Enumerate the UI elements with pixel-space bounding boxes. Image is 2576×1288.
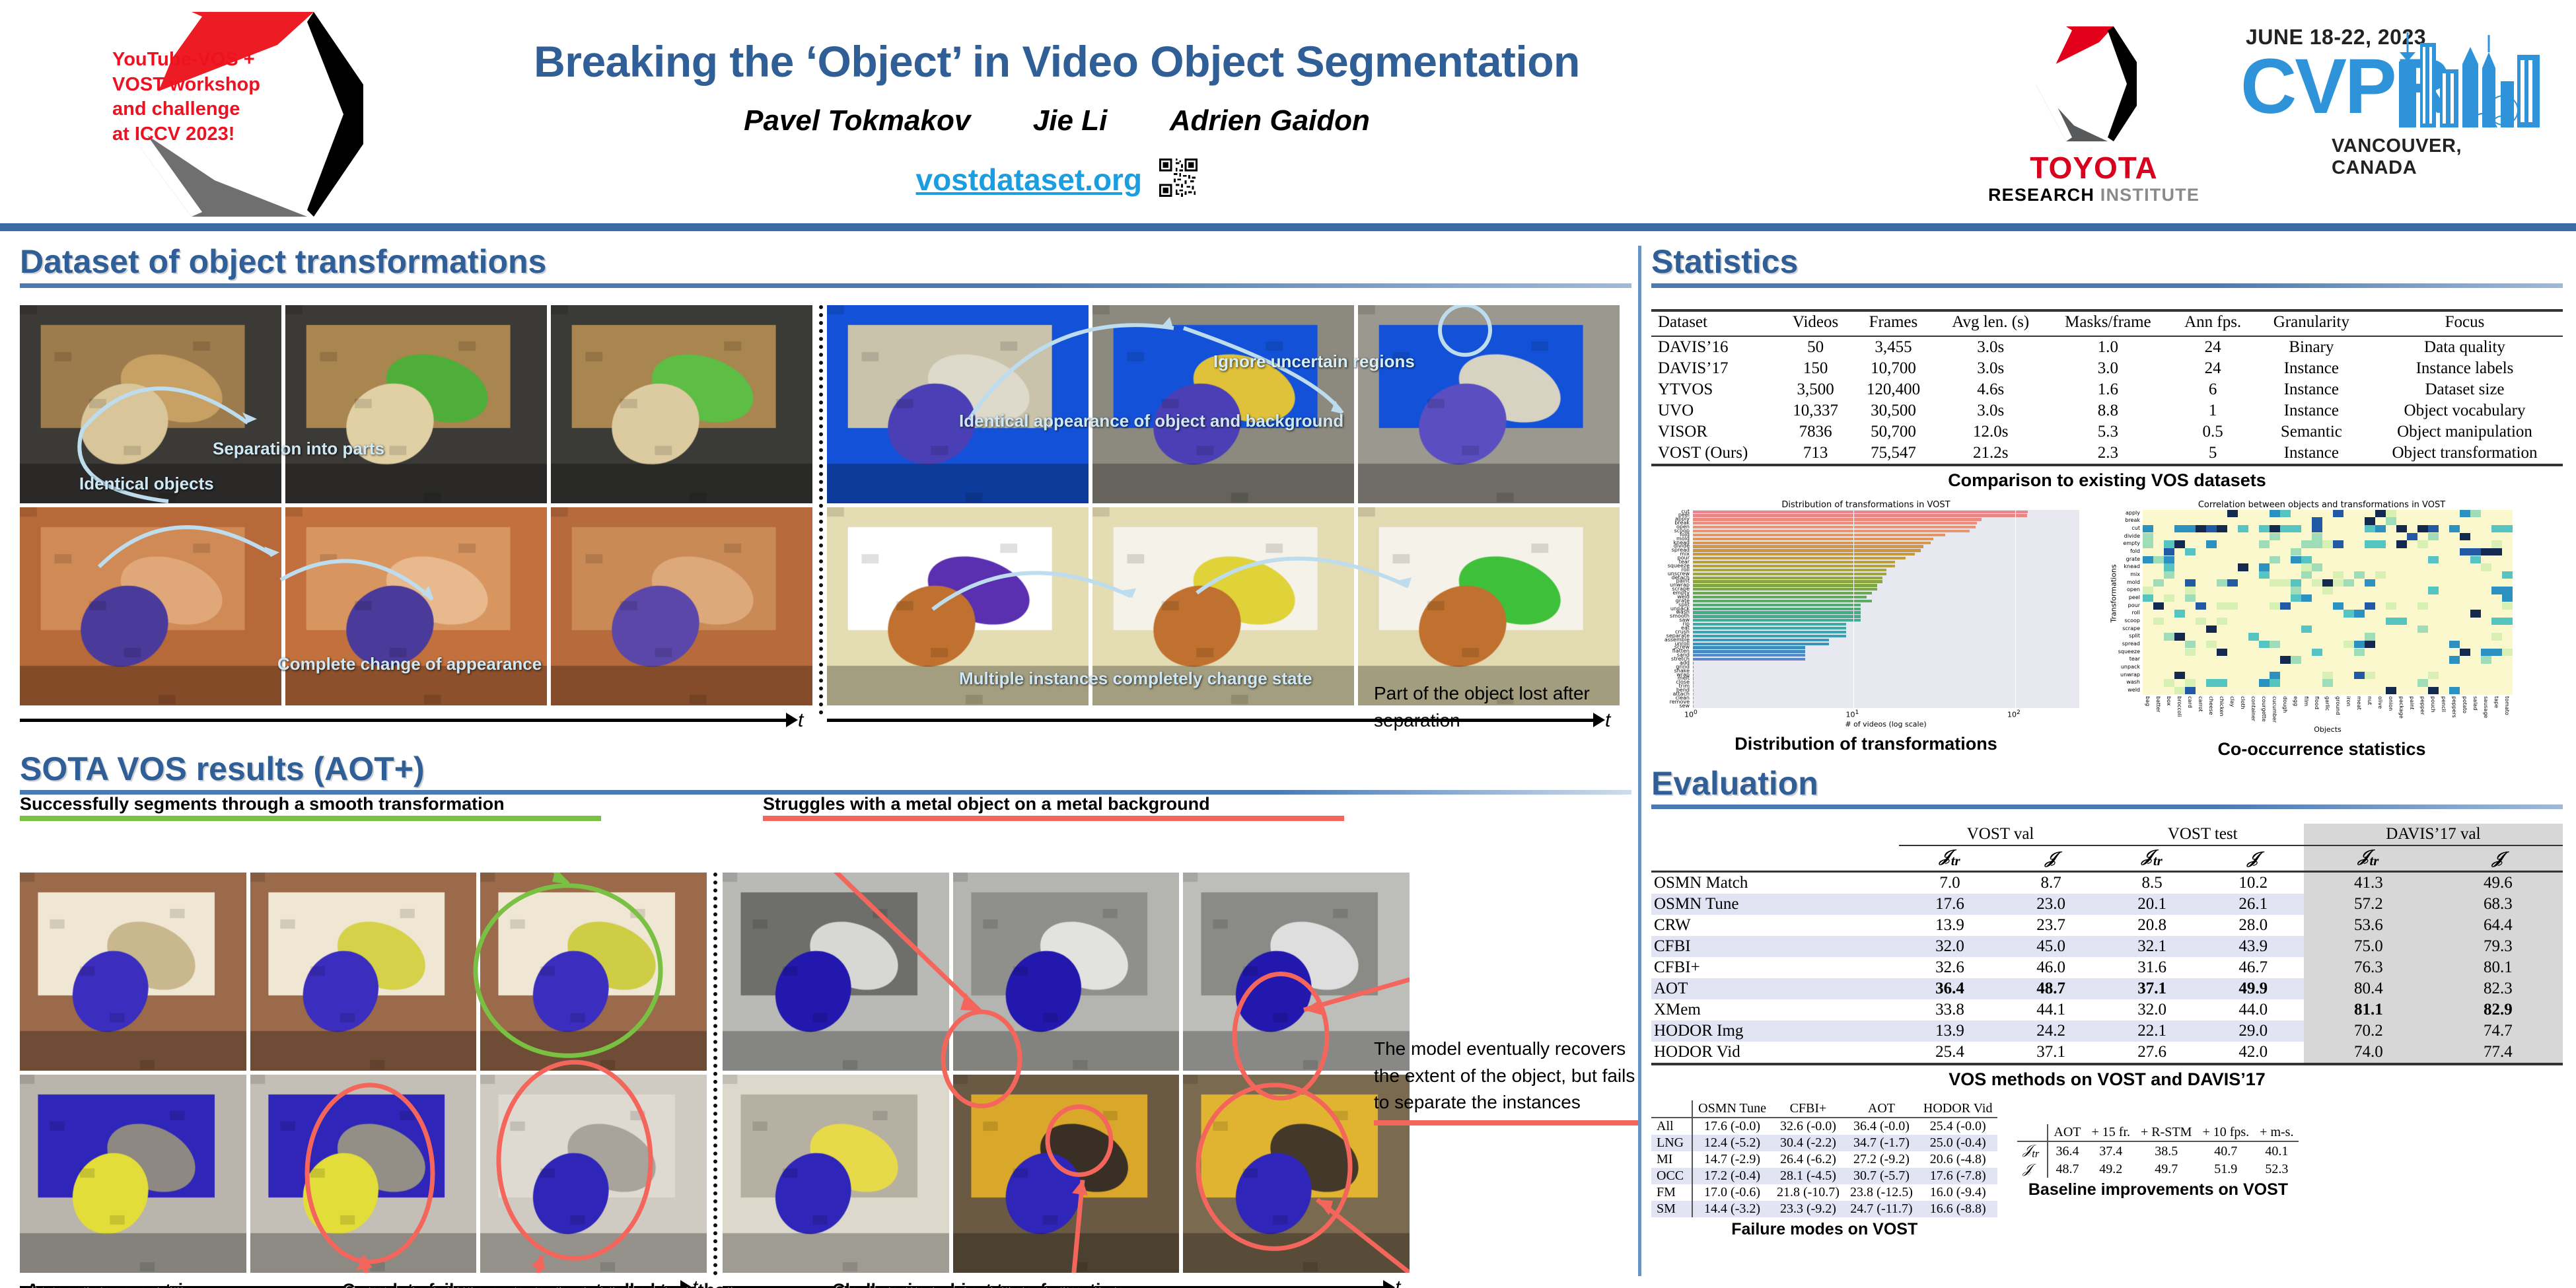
table-cell: 41.3 xyxy=(2304,872,2433,894)
table-cell: Instance xyxy=(2256,400,2367,421)
table-cell: 4.6s xyxy=(1935,379,2046,400)
table-cell: OCC xyxy=(1651,1168,1692,1184)
heatmap-y-label: weld xyxy=(2128,687,2140,693)
vancouver-skyline-icon xyxy=(2390,23,2548,135)
table-cell: Data quality xyxy=(2367,336,2563,358)
eval-method-name: OSMN Tune xyxy=(1651,894,1899,915)
section-rule-evaluation xyxy=(1651,805,2563,809)
table-cell: 48.7 xyxy=(2001,978,2102,999)
heatmap-x-label: flood xyxy=(2314,696,2320,709)
heatmap-cell xyxy=(2291,556,2301,564)
heatmap-cell xyxy=(2217,679,2227,687)
stats-col-header: Granularity xyxy=(2256,310,2367,336)
project-url-row: vostdataset.org xyxy=(462,159,1651,200)
right-column: Statistics DatasetVideosFramesAvg len. (… xyxy=(1651,244,2563,1281)
heatmap-x-label: tape xyxy=(2493,696,2499,708)
baseline-col-header: + 10 fps. xyxy=(2197,1124,2254,1141)
table-cell: 713 xyxy=(1779,443,1851,465)
time-axis-label: t xyxy=(798,709,803,732)
table-row: DAVIS’16503,4553.0s1.024BinaryData quali… xyxy=(1651,336,2563,358)
heatmap-cell xyxy=(2428,533,2439,541)
heatmap-cell xyxy=(2333,571,2343,579)
heatmap-cell xyxy=(2143,587,2153,594)
heatmap-x-label: cucumber xyxy=(2272,696,2277,723)
video-frame xyxy=(250,1075,477,1273)
sota-success-block xyxy=(20,873,707,1273)
heatmap-cell xyxy=(2196,525,2206,533)
heatmap-cell xyxy=(2481,563,2491,571)
heatmap-cell xyxy=(2196,602,2206,610)
table-cell: 81.1 xyxy=(2304,999,2433,1020)
table-cell: 17.2 (-0.4) xyxy=(1692,1168,1771,1184)
heatmap-cell xyxy=(2206,641,2217,649)
cvpr-city: VANCOUVER, CANADA xyxy=(2332,135,2550,179)
heatmap-x-label: sausage xyxy=(2483,696,2489,718)
table-cell: 2.3 xyxy=(2046,443,2169,465)
table-row: CRW13.923.720.828.053.664.4 xyxy=(1651,915,2563,936)
badge-line-3: and challenge xyxy=(112,97,310,122)
failure-table-block: OSMN TuneCFBI+AOTHODOR Vid All17.6 (-0.0… xyxy=(1651,1100,1997,1239)
table-cell: 32.0 xyxy=(2102,999,2203,1020)
heatmap-y-label: mold xyxy=(2127,579,2140,585)
heatmap-cell xyxy=(2460,548,2470,556)
heatmap-cell xyxy=(2375,571,2386,579)
heatmap-x-label: onion xyxy=(2388,696,2394,711)
heatmap-cell xyxy=(2333,579,2343,587)
table-cell: 7.0 xyxy=(1899,872,2000,894)
eval-method-name: HODOR Img xyxy=(1651,1020,1899,1042)
table-cell: 80.4 xyxy=(2304,978,2433,999)
x-tick-label: 101 xyxy=(1845,709,1859,719)
heatmap-cell xyxy=(2164,594,2174,602)
bar: assemble xyxy=(1692,639,1829,641)
heatmap-cell xyxy=(2365,517,2375,525)
table-cell: Instance labels xyxy=(2367,358,2563,379)
table-cell: 10.2 xyxy=(2203,872,2304,894)
table-cell: 120,400 xyxy=(1852,379,1935,400)
table-cell: 50,700 xyxy=(1852,421,1935,443)
heatmap-cell xyxy=(2428,525,2439,533)
heatmap-cell xyxy=(2481,649,2491,657)
section-heading-dataset: Dataset of object transformations xyxy=(20,244,1631,279)
heatmap-cell xyxy=(2502,571,2513,579)
bar: unwrap xyxy=(1692,584,1877,587)
heatmap-x-label: tomato xyxy=(2504,696,2510,715)
heatmap-cell xyxy=(2301,563,2312,571)
stats-table-wrap: DatasetVideosFramesAvg len. (s)Masks/fra… xyxy=(1651,309,2563,491)
heatmap-cell xyxy=(2206,626,2217,633)
heatmap-cell xyxy=(2417,525,2428,533)
video-frame xyxy=(20,873,246,1071)
table-cell: 17.6 xyxy=(1899,894,2000,915)
annotation-challenging-transformation: Challenging object transformation xyxy=(832,1279,1176,1288)
tri-mark-icon xyxy=(2021,21,2160,147)
table-cell: 1.6 xyxy=(2046,379,2169,400)
bar: empty xyxy=(1692,592,1872,594)
table-row: 𝒥tr36.437.438.540.740.1 xyxy=(2017,1141,2299,1161)
heatmap-cell xyxy=(2174,672,2185,680)
cvpr-conference-logo: JUNE 18-22, 2023 CVPR xyxy=(2239,20,2550,211)
heatmap-cell xyxy=(2174,610,2185,618)
heatmap-x-label: clay xyxy=(2229,696,2235,707)
heatmap-cell xyxy=(2185,641,2196,649)
heatmap-cell xyxy=(2270,525,2280,533)
table-group-header-row: VOST valVOST testDAVIS’17 val xyxy=(1651,824,2563,845)
table-cell: 8.7 xyxy=(2001,872,2102,894)
annotation-model-recovers: The model eventually recovers the extent… xyxy=(1374,1036,1638,1126)
table-cell: 25.4 xyxy=(1899,1042,2000,1064)
table-cell: 82.3 xyxy=(2433,978,2563,999)
table-cell: 33.8 xyxy=(1899,999,2000,1020)
video-frame xyxy=(723,1075,949,1273)
heatmap-cell xyxy=(2185,649,2196,657)
heatmap-cell xyxy=(2428,556,2439,564)
heatmap-cell xyxy=(2153,618,2164,626)
sota-row-2-left xyxy=(20,1075,707,1273)
dataset-row-2-right xyxy=(827,507,1620,705)
table-cell: 𝒥tr xyxy=(2017,1141,2048,1161)
stats-col-header: Focus xyxy=(2367,310,2563,336)
sota-row-1-right xyxy=(723,873,1410,1071)
heatmap-y-label: tear xyxy=(2129,656,2140,662)
table-cell: 14.4 (-3.2) xyxy=(1692,1201,1771,1217)
table-cell: 34.7 (-1.7) xyxy=(1845,1135,1918,1151)
video-frame xyxy=(250,873,477,1071)
heatmap-x-label: dough xyxy=(2282,696,2288,713)
video-frame xyxy=(20,507,281,705)
heatmap-cell xyxy=(2270,641,2280,649)
failure-modes-table: OSMN TuneCFBI+AOTHODOR Vid All17.6 (-0.0… xyxy=(1651,1100,1997,1217)
heatmap-x-label: batter xyxy=(2155,696,2161,712)
table-cell: 27.6 xyxy=(2102,1042,2203,1064)
stats-col-header: Frames xyxy=(1852,310,1935,336)
sota-row-2-right xyxy=(723,1075,1410,1273)
section-statistics: Statistics DatasetVideosFramesAvg len. (… xyxy=(1651,244,2563,760)
stats-col-header: Dataset xyxy=(1651,310,1779,336)
table-cell: 17.0 (-0.6) xyxy=(1692,1184,1771,1201)
heatmap-cell xyxy=(2333,510,2343,518)
heatmap-x-label: cloth xyxy=(2240,696,2246,709)
stats-col-header: Avg len. (s) xyxy=(1935,310,2046,336)
table-cell: 27.2 (-9.2) xyxy=(1845,1151,1918,1168)
eval-method-name: OSMN Match xyxy=(1651,872,1899,894)
table-cell: 25.0 (-0.4) xyxy=(1918,1135,1998,1151)
eval-method-name: HODOR Vid xyxy=(1651,1042,1899,1064)
bar: unroll xyxy=(1692,643,1829,645)
heatmap-y-label: squeeze xyxy=(2118,649,2140,655)
table-cell: 23.0 xyxy=(2001,894,2102,915)
author-2: Jie Li xyxy=(1033,104,1108,137)
project-url-link[interactable]: vostdataset.org xyxy=(916,162,1143,197)
bar: weld xyxy=(1692,596,1867,598)
table-row: DAVIS’1715010,7003.0s3.024InstanceInstan… xyxy=(1651,358,2563,379)
section-evaluation: Evaluation VOST valVOST testDAVIS’17 val… xyxy=(1651,766,2563,1240)
table-row: CFBI+32.646.031.646.776.380.1 xyxy=(1651,957,2563,978)
heatmap-cell xyxy=(2270,510,2280,518)
heatmap-cell xyxy=(2280,525,2291,533)
table-cell: DAVIS’16 xyxy=(1651,336,1779,358)
heatmap-cell xyxy=(2143,594,2153,602)
heatmap-cell xyxy=(2386,618,2396,626)
table-cell: 28.1 (-4.5) xyxy=(1771,1168,1845,1184)
failure-col-header: AOT xyxy=(1845,1100,1918,1118)
table-cell: 42.0 xyxy=(2203,1042,2304,1064)
dataset-row-2-left xyxy=(20,507,812,705)
heatmap-x-label: bag xyxy=(2145,696,2151,706)
heatmap-cell xyxy=(2270,672,2280,680)
table-cell: 76.3 xyxy=(2304,957,2433,978)
eval-sub-header: 𝒥 xyxy=(2001,845,2102,872)
video-frame xyxy=(953,873,1180,1071)
heatmap-x-label: pencil xyxy=(2441,696,2447,712)
heatmap-cell xyxy=(2417,679,2428,687)
heatmap-cell xyxy=(2259,679,2270,687)
table-row: OSMN Match7.08.78.510.241.349.6 xyxy=(1651,872,2563,894)
table-cell: 44.0 xyxy=(2203,999,2304,1020)
table-cell: 80.1 xyxy=(2433,957,2563,978)
section-heading-statistics: Statistics xyxy=(1651,244,2563,279)
heatmap-cell xyxy=(2206,540,2217,548)
bar: unscrew xyxy=(1692,573,1886,575)
badge-line-2: VOST workshop xyxy=(112,73,310,98)
heatmap-cell xyxy=(2227,510,2238,518)
heatmap-cell xyxy=(2365,579,2375,587)
heatmap-x-label: courgette xyxy=(2261,696,2267,722)
table-cell: 32.1 xyxy=(2102,936,2203,957)
dataset-row-1-right xyxy=(827,305,1620,503)
table-cell: 40.7 xyxy=(2197,1141,2254,1161)
bar: grate xyxy=(1692,600,1872,602)
heatmap-cell xyxy=(2449,687,2460,695)
table-cell: Instance xyxy=(2256,379,2367,400)
table-cell: All xyxy=(1651,1118,1692,1135)
failure-col-header: OSMN Tune xyxy=(1692,1100,1771,1118)
heatmap-y-label: cut xyxy=(2131,525,2140,531)
bar: split xyxy=(1692,604,1861,606)
heatmap-cell xyxy=(2259,540,2270,548)
heatmap-cell xyxy=(2491,525,2502,533)
heatmap-y-label: mix xyxy=(2130,571,2140,577)
video-frame xyxy=(480,873,707,1071)
table-cell: 6 xyxy=(2170,379,2256,400)
failure-col-header: CFBI+ xyxy=(1771,1100,1845,1118)
table-cell: 3,500 xyxy=(1779,379,1851,400)
eval-group-header: VOST val xyxy=(1899,824,2101,845)
bar: unpack xyxy=(1692,608,1861,610)
heatmap-cell xyxy=(2386,517,2396,525)
video-frame xyxy=(1358,507,1620,705)
table-cell: 74.7 xyxy=(2433,1020,2563,1042)
heatmap-cell xyxy=(2185,594,2196,602)
heatmap-cell xyxy=(2491,618,2502,626)
table-cell: 17.6 (-7.8) xyxy=(1918,1168,1998,1184)
heatmap-cell xyxy=(2322,679,2333,687)
heatmap-cell xyxy=(2322,579,2333,587)
heatmap-x-label: package xyxy=(2398,696,2404,719)
table-cell: 10,337 xyxy=(1779,400,1851,421)
heatmap-cell xyxy=(2491,540,2502,548)
heatmap-cell xyxy=(2312,533,2322,541)
table-row: VISOR783650,70012.0s5.30.5SemanticObject… xyxy=(1651,421,2563,443)
heatmap-cell xyxy=(2502,602,2513,610)
stats-col-header: Videos xyxy=(1779,310,1851,336)
table-cell: 13.9 xyxy=(1899,915,2000,936)
cooccurrence-ylabel: Transformations xyxy=(2110,554,2118,633)
x-tick-label: 102 xyxy=(2007,709,2021,719)
heatmap-cell xyxy=(2270,579,2280,587)
heatmap-cell xyxy=(2259,563,2270,571)
heatmap-cell xyxy=(2291,594,2301,602)
table-cell: 24.2 xyxy=(2001,1020,2102,1042)
workshop-badge-text: YouTube-VOS + VOST workshop and challeng… xyxy=(112,48,310,147)
table-cell: 22.1 xyxy=(2102,1020,2203,1042)
table-cell: 32.0 xyxy=(1899,936,2000,957)
distribution-bar-chart: cutpeelapplybreakopenscoopfoldmoldkneadd… xyxy=(1692,510,2079,708)
section-rule-statistics xyxy=(1651,283,2563,288)
heatmap-cell xyxy=(2396,618,2407,626)
heatmap-cell xyxy=(2301,594,2312,602)
bar-label: sew xyxy=(1679,704,1690,708)
eval-method-name: CRW xyxy=(1651,915,1899,936)
bar: separate xyxy=(1692,635,1846,637)
heatmap-cell xyxy=(2164,548,2174,556)
heatmap-cell xyxy=(2354,610,2365,618)
eval-sub-header: 𝒥tr xyxy=(2304,845,2433,872)
table-cell: 48.7 xyxy=(2048,1161,2086,1178)
heatmap-x-label: garlic xyxy=(2324,696,2330,711)
annotation-smooth-transformation: Successfully segments through a smooth t… xyxy=(20,793,601,821)
video-frame xyxy=(1092,507,1354,705)
heatmap-cell xyxy=(2449,525,2460,533)
heatmap-cell xyxy=(2354,641,2365,649)
bar: divide xyxy=(1692,545,1923,548)
heatmap-cell xyxy=(2291,579,2301,587)
table-cell: 74.0 xyxy=(2304,1042,2433,1064)
heatmap-y-label: pour xyxy=(2128,602,2140,608)
heatmap-cell xyxy=(2153,556,2164,564)
heatmap-cell xyxy=(2227,602,2238,610)
heatmap-cell xyxy=(2280,602,2291,610)
table-cell: Instance xyxy=(2256,358,2367,379)
heatmap-cell xyxy=(2386,687,2396,695)
table-cell: 24 xyxy=(2170,336,2256,358)
page-title: Breaking the ‘Object’ in Video Object Se… xyxy=(462,36,1651,87)
table-cell: 3,455 xyxy=(1852,336,1935,358)
heatmap-y-label: wash xyxy=(2126,679,2140,685)
eval-method-name: CFBI+ xyxy=(1651,957,1899,978)
bar: spread xyxy=(1692,549,1921,552)
heatmap-cell xyxy=(2365,525,2375,533)
distribution-xlabel: # of videos (log scale) xyxy=(1692,720,2079,729)
heatmap-cell xyxy=(2259,641,2270,649)
table-cell: 31.6 xyxy=(2102,957,2203,978)
poster-root: YouTube-VOS + VOST workshop and challeng… xyxy=(0,0,2576,1288)
heatmap-cell xyxy=(2333,540,2343,548)
heatmap-cell xyxy=(2343,579,2354,587)
distribution-chart-title: Distribution of transformations in VOST xyxy=(1651,500,2081,510)
baseline-col-header xyxy=(2017,1124,2048,1141)
sota-failure-block xyxy=(723,873,1410,1273)
table-cell: Instance xyxy=(2256,443,2367,465)
stats-charts: Distribution of transformations in VOST … xyxy=(1651,500,2563,760)
eval-method-name: AOT xyxy=(1651,978,1899,999)
heatmap-x-label: broccoli xyxy=(2176,696,2182,717)
heatmap-cell xyxy=(2185,687,2196,695)
table-row: SM14.4 (-3.2)23.3 (-9.2)24.7 (-11.7)16.6… xyxy=(1651,1201,1997,1217)
stats-col-header: Masks/frame xyxy=(2046,310,2169,336)
table-cell: 17.6 (-0.0) xyxy=(1692,1118,1771,1135)
table-cell: 43.9 xyxy=(2203,936,2304,957)
heatmap-cell xyxy=(2386,602,2396,610)
heatmap-cell xyxy=(2417,626,2428,633)
table-cell: 32.6 (-0.0) xyxy=(1771,1118,1845,1135)
heatmap-cell xyxy=(2206,679,2217,687)
heatmap-x-label: egg xyxy=(2293,696,2299,706)
table-cell: 150 xyxy=(1779,358,1851,379)
eval-table-wrap: VOST valVOST testDAVIS’17 val 𝒥tr𝒥𝒥tr𝒥𝒥t… xyxy=(1651,824,2563,1090)
heatmap-y-label: unwrap xyxy=(2120,672,2140,678)
heatmap-cell xyxy=(2312,517,2322,525)
eval-corner xyxy=(1651,824,1899,845)
sota-row-1-left xyxy=(20,873,707,1071)
bar: smooth xyxy=(1692,615,1861,618)
eval-table: VOST valVOST testDAVIS’17 val 𝒥tr𝒥𝒥tr𝒥𝒥t… xyxy=(1651,824,2563,1065)
bar: eat xyxy=(1692,627,1846,629)
table-cell: 36.4 (-0.0) xyxy=(1845,1118,1918,1135)
bar: flatten xyxy=(1692,650,1805,653)
eval-corner-2 xyxy=(1651,845,1899,872)
table-header-row: AOT+ 15 fr.+ R-STM+ 10 fps.+ m-s. xyxy=(2017,1124,2299,1141)
bar: cut xyxy=(1692,511,2028,513)
eval-sub-header: 𝒥 xyxy=(2203,845,2304,872)
video-frame xyxy=(20,305,281,503)
cooccurrence-chart-title: Correlation between objects and transfor… xyxy=(2094,500,2550,510)
heatmap-cell xyxy=(2301,571,2312,579)
table-cell: Semantic xyxy=(2256,421,2367,443)
heatmap-cell xyxy=(2365,672,2375,680)
heatmap-y-label: fold xyxy=(2130,548,2140,554)
time-axis-left: t xyxy=(20,708,812,734)
table-cell: 1.0 xyxy=(2046,336,2169,358)
heatmap-cell xyxy=(2322,540,2333,548)
bar: peel xyxy=(1692,514,2027,517)
bar: saw xyxy=(1692,619,1861,622)
heatmap-cell xyxy=(2428,587,2439,594)
heatmap-cell xyxy=(2322,672,2333,680)
table-row: UVO10,33730,5003.0s8.81InstanceObject vo… xyxy=(1651,400,2563,421)
heatmap-cell xyxy=(2460,510,2470,518)
heatmap-cell xyxy=(2164,571,2174,579)
heatmap-cell xyxy=(2259,571,2270,579)
column-divider xyxy=(1638,246,1641,1276)
x-tick-label: 100 xyxy=(1684,709,1698,719)
eval-method-name: CFBI xyxy=(1651,936,1899,957)
video-frame xyxy=(285,305,547,503)
table-cell: 8.8 xyxy=(2046,400,2169,421)
table-cell: 40.1 xyxy=(2254,1141,2299,1161)
table-row: HODOR Img13.924.222.129.070.274.7 xyxy=(1651,1020,2563,1042)
heatmap-cell xyxy=(2481,548,2491,556)
table-cell: 24.7 (-11.7) xyxy=(1845,1201,1918,1217)
table-cell: 10,700 xyxy=(1852,358,1935,379)
heatmap-x-label: paint xyxy=(2409,696,2415,709)
sota-dotted-divider xyxy=(713,873,717,1275)
heatmap-y-label: divide xyxy=(2124,533,2140,539)
table-cell: 50 xyxy=(1779,336,1851,358)
heatmap-cell xyxy=(2375,540,2386,548)
heatmap-cell xyxy=(2217,602,2227,610)
ri-institute: INSTITUTE xyxy=(2100,185,2200,205)
